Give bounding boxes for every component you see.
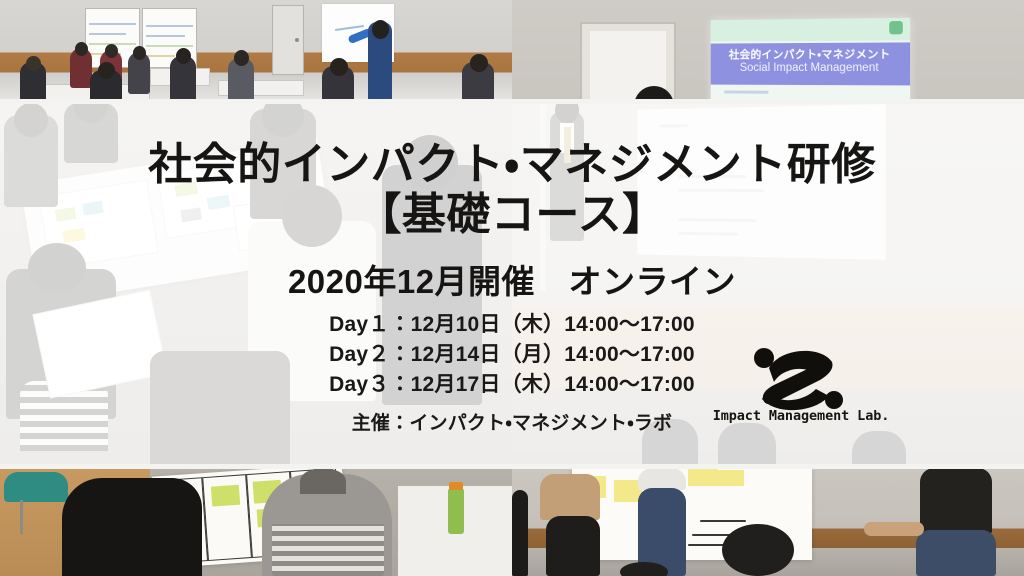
- logo-wordmark: Impact Management Lab.: [706, 408, 896, 424]
- impact-management-lab-mark: [706, 342, 896, 412]
- poster-text-content: 社会的インパクト・マネジメント研修 【基礎コース】 2020年12月開催 オンラ…: [0, 0, 1024, 576]
- page-title: 社会的インパクト・マネジメント研修 【基礎コース】: [0, 140, 1024, 239]
- event-subtitle: 2020年12月開催 オンライン: [0, 255, 1024, 303]
- event-poster: 社会的インパクト・マネジメント Social Impact Management: [0, 0, 1024, 576]
- title-line-2: 【基礎コース】: [0, 190, 1024, 240]
- organizer-logo: Impact Management Lab.: [706, 342, 896, 434]
- title-line-1: 社会的インパクト・マネジメント研修: [0, 140, 1024, 190]
- schedule-day-1: Day１：12月10日（木）14:00〜17:00: [0, 310, 1024, 340]
